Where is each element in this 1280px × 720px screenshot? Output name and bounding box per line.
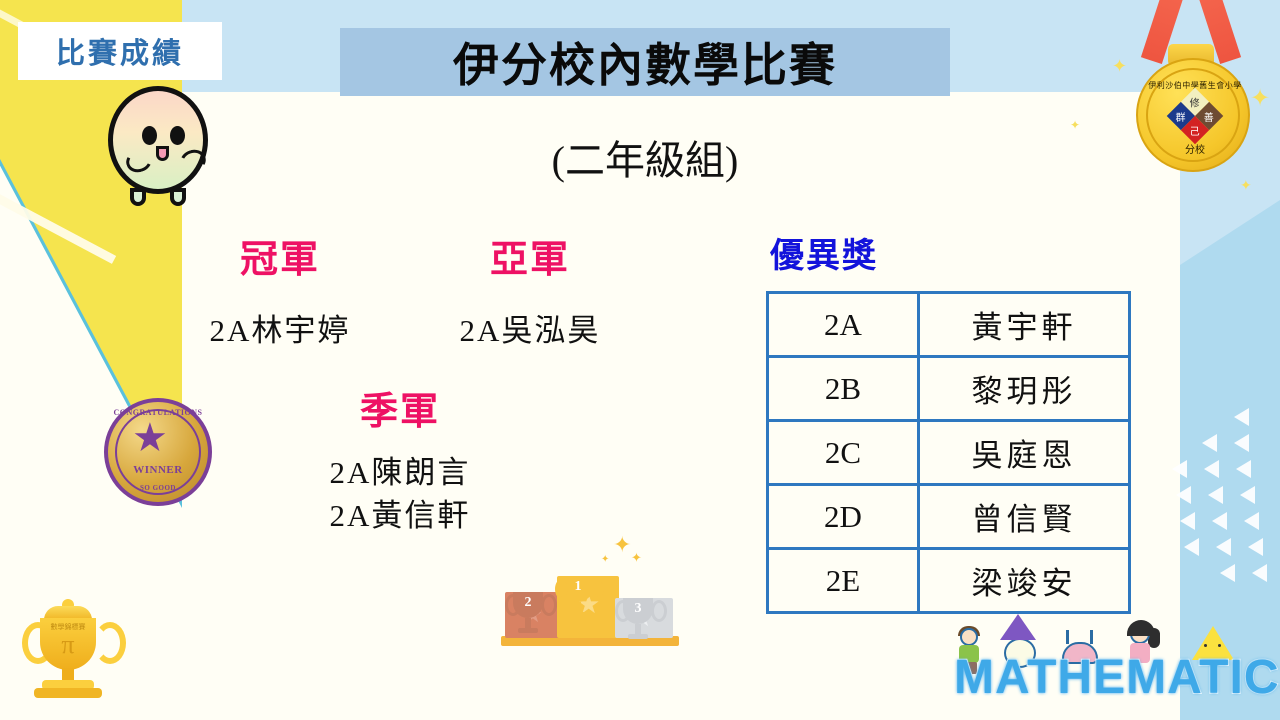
cell-class: 2B [768, 357, 919, 421]
cell-name: 曾信賢 [919, 485, 1130, 549]
pi-trophy-icon: 數學錦標賽 π [16, 600, 120, 710]
medal-bottom-text: 分校 [1138, 141, 1252, 156]
cell-name: 吳庭恩 [919, 421, 1130, 485]
table-row: 2B 黎玥彤 [768, 357, 1130, 421]
results-label-badge: 比賽成績 [18, 22, 222, 80]
table-row: 2C 吳庭恩 [768, 421, 1130, 485]
cell-name: 梁竣安 [919, 549, 1130, 613]
coin-bottom-text: SO GOOD [108, 484, 208, 492]
third-place-winner-2: 2A黃信軒 [270, 496, 530, 537]
sparkle-icon: ✦ [1240, 178, 1252, 195]
emblem-char-left: 群 [1176, 109, 1186, 124]
emblem-char-bottom: 己 [1190, 123, 1200, 138]
slide-canvas: 比賽成績 伊分校內數學比賽 (二年級組) 伊利沙伯中學舊生會小學 修 善 群 己… [0, 0, 1280, 720]
sparkle-icon: ✦ [1112, 56, 1127, 77]
winner-coin-icon: CONGRATULATIONS ★ WINNER SO GOOD [96, 402, 228, 502]
table-row: 2E 梁竣安 [768, 549, 1130, 613]
trophy-pi-symbol: π [40, 630, 96, 660]
cell-class: 2C [768, 421, 919, 485]
page-title: 伊分校內數學比賽 [453, 29, 837, 95]
mathematics-logo: MATHEMATICS [946, 620, 1266, 716]
sparkle-icon: ✦ [1250, 84, 1270, 113]
table-row: 2A 黃宇軒 [768, 293, 1130, 357]
medal-disc: 伊利沙伯中學舊生會小學 修 善 群 己 分校 [1136, 58, 1250, 172]
mascot-character-icon [98, 84, 220, 220]
emblem-char-top: 修 [1190, 94, 1200, 109]
emblem-char-right: 善 [1204, 109, 1214, 124]
excellence-table: 2A 黃宇軒 2B 黎玥彤 2C 吳庭恩 2D 曾信賢 2E 梁竣安 [766, 291, 1131, 614]
table-row: 2D 曾信賢 [768, 485, 1130, 549]
page-subtitle: (二年級組) [340, 128, 950, 186]
runner-up-heading: 亞軍 [420, 228, 640, 283]
sparkle-icon: ✦ [1070, 118, 1080, 133]
results-label-text: 比賽成績 [56, 30, 184, 72]
cell-name: 黃宇軒 [919, 293, 1130, 357]
arrow-pattern-decoration [1172, 408, 1276, 638]
third-place-winner-1: 2A陳朗言 [270, 453, 530, 494]
cell-class: 2D [768, 485, 919, 549]
excellence-award-section: 優異獎 2A 黃宇軒 2B 黎玥彤 2C 吳庭恩 2D 曾信賢 [766, 228, 1131, 614]
podium-illustration-icon: ★ ★ ★ 1 2 3 ✦ ✦ ✦ [505, 532, 675, 652]
excellence-heading: 優異獎 [770, 228, 1131, 277]
cell-class: 2A [768, 293, 919, 357]
third-place-heading: 季軍 [270, 380, 530, 435]
mathematics-wordmark: MATHEMATICS [954, 650, 1280, 705]
coin-winner-text: WINNER [108, 464, 208, 476]
cell-name: 黎玥彤 [919, 357, 1130, 421]
champion-winner: 2A林宇婷 [170, 305, 390, 350]
runner-up-column: 亞軍 2A吳泓昊 [420, 228, 640, 350]
third-place-column: 季軍 2A陳朗言 2A黃信軒 [270, 380, 530, 537]
runner-up-winner: 2A吳泓昊 [420, 305, 640, 350]
cell-class: 2E [768, 549, 919, 613]
champion-heading: 冠軍 [170, 228, 390, 283]
champion-column: 冠軍 2A林宇婷 [170, 228, 390, 350]
title-banner: 伊分校內數學比賽 [340, 28, 950, 96]
